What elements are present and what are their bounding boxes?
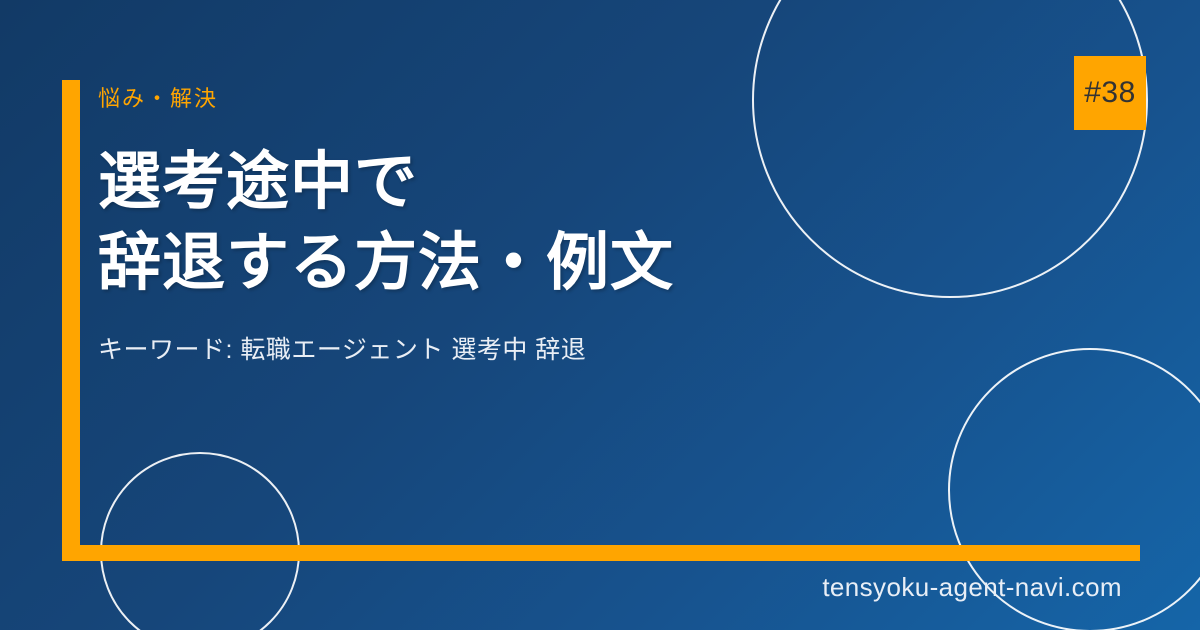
accent-frame-vertical-bar [62, 80, 80, 561]
category-label: 悩み・解決 [98, 86, 1078, 112]
ogp-card: #38 悩み・解決 選考途中で 辞退する方法・例文 キーワード: 転職エージェン… [0, 0, 1200, 630]
page-title-line-2: 辞退する方法・例文 [98, 223, 1078, 304]
page-title: 選考途中で 辞退する方法・例文 [98, 142, 1078, 303]
footer-site-url: tensyoku-agent-navi.com [822, 572, 1122, 603]
keyword-line: キーワード: 転職エージェント 選考中 辞退 [98, 334, 1078, 368]
issue-number-badge: #38 [1074, 56, 1146, 130]
page-title-line-1: 選考途中で [98, 142, 1078, 223]
issue-number-label: #38 [1084, 76, 1136, 110]
content-block: 悩み・解決 選考途中で 辞退する方法・例文 キーワード: 転職エージェント 選考… [98, 86, 1078, 367]
decorative-circle-bottom-left [100, 452, 300, 630]
accent-frame-horizontal-bar [62, 545, 1140, 561]
